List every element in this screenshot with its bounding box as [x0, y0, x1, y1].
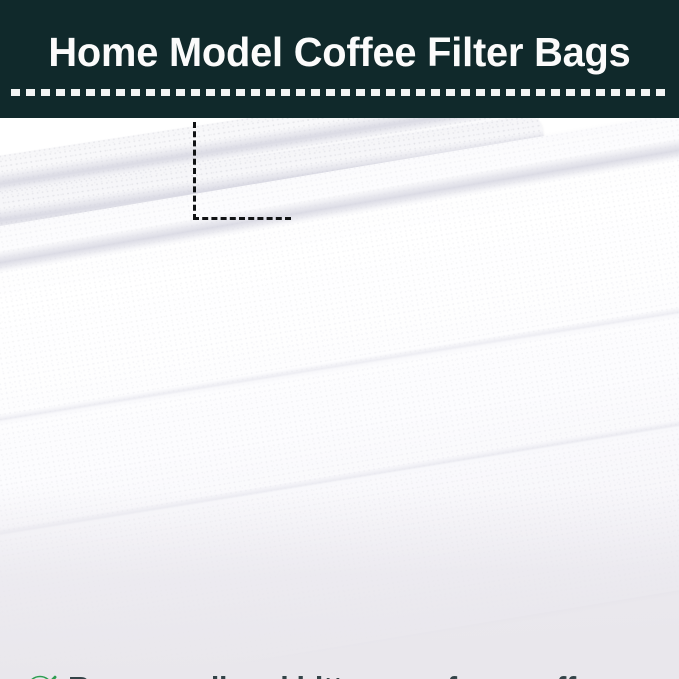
product-image: Home Model Coffee Filter Bags	[0, 0, 679, 679]
header-dashed-divider	[11, 89, 669, 96]
benefit-list: Remove oil and bitterness from coffee Re…	[0, 662, 679, 679]
fabric-crease	[0, 285, 679, 447]
benefit-text: Remove oil and bitterness from coffee	[68, 671, 609, 679]
dashed-callout-bracket	[193, 122, 291, 220]
benefit-item-1: Remove oil and bitterness from coffee	[0, 662, 679, 679]
page-title: Home Model Coffee Filter Bags	[10, 27, 669, 77]
header-banner: Home Model Coffee Filter Bags	[0, 0, 679, 118]
photo-floor-gradient	[0, 489, 679, 679]
product-photo: Remove oil and bitterness from coffee Re…	[0, 118, 679, 679]
circle-check-icon	[24, 671, 58, 679]
callout-horizontal-line	[193, 217, 291, 220]
callout-vertical-line	[193, 122, 196, 220]
